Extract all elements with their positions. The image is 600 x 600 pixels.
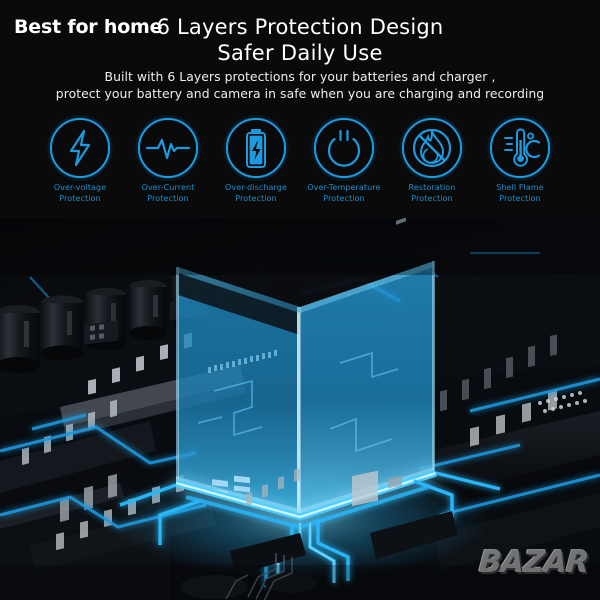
power-button-icon: [314, 118, 374, 178]
label-line-2: Protection: [386, 194, 478, 205]
label-line-1: Shell Flame: [496, 183, 544, 192]
feature-label-over-current: Over-Current Protection: [122, 183, 214, 204]
feature-label-shell-flame: Shell Flame Protection: [474, 183, 566, 204]
label-line-1: Over-discharge: [225, 183, 287, 192]
product-scene-image: [0, 215, 600, 600]
feature-label-restoration: Restoration Protection: [386, 183, 478, 204]
best-for-home-overlay-text: Best for home: [14, 16, 162, 38]
subtitle-text: Built with 6 Layers protections for your…: [0, 68, 600, 102]
subtitle-line-2: protect your battery and camera in safe …: [0, 85, 600, 102]
title-line-2: Safer Daily Use: [0, 40, 600, 66]
lightning-bolt-icon: [50, 118, 110, 178]
feature-item-shell-flame[interactable]: Shell Flame Protection: [474, 118, 566, 204]
feature-label-over-temperature: Over-Temperature Protection: [298, 183, 390, 204]
label-line-1: Over-voltage: [54, 183, 107, 192]
feature-item-over-discharge[interactable]: Over-discharge Protection: [210, 118, 302, 204]
label-line-2: Protection: [298, 194, 390, 205]
feature-item-over-temperature[interactable]: Over-Temperature Protection: [298, 118, 390, 204]
battery-bolt-icon: [226, 118, 286, 178]
feature-item-restoration[interactable]: Restoration Protection: [386, 118, 478, 204]
feature-item-over-voltage[interactable]: Over-voltage Protection: [34, 118, 126, 204]
label-line-1: Over-Current: [142, 183, 195, 192]
feature-label-over-discharge: Over-discharge Protection: [210, 183, 302, 204]
thermometer-celsius-icon: [490, 118, 550, 178]
label-line-2: Protection: [34, 194, 126, 205]
feature-label-over-voltage: Over-voltage Protection: [34, 183, 126, 204]
label-line-2: Protection: [122, 194, 214, 205]
label-line-2: Protection: [210, 194, 302, 205]
waveform-pulse-icon: [138, 118, 198, 178]
feature-item-over-current[interactable]: Over-Current Protection: [122, 118, 214, 204]
label-line-1: Over-Temperature: [307, 183, 380, 192]
bazar-watermark: BAZAR: [478, 545, 590, 580]
label-line-1: Restoration: [409, 183, 456, 192]
label-line-2: Protection: [474, 194, 566, 205]
subtitle-line-1: Built with 6 Layers protections for your…: [0, 68, 600, 85]
feature-icon-row: Over-voltage Protection Over-Current Pro…: [0, 118, 600, 214]
header-banner: 6 Layers Protection Design Safer Daily U…: [0, 0, 600, 218]
no-flame-icon: [402, 118, 462, 178]
